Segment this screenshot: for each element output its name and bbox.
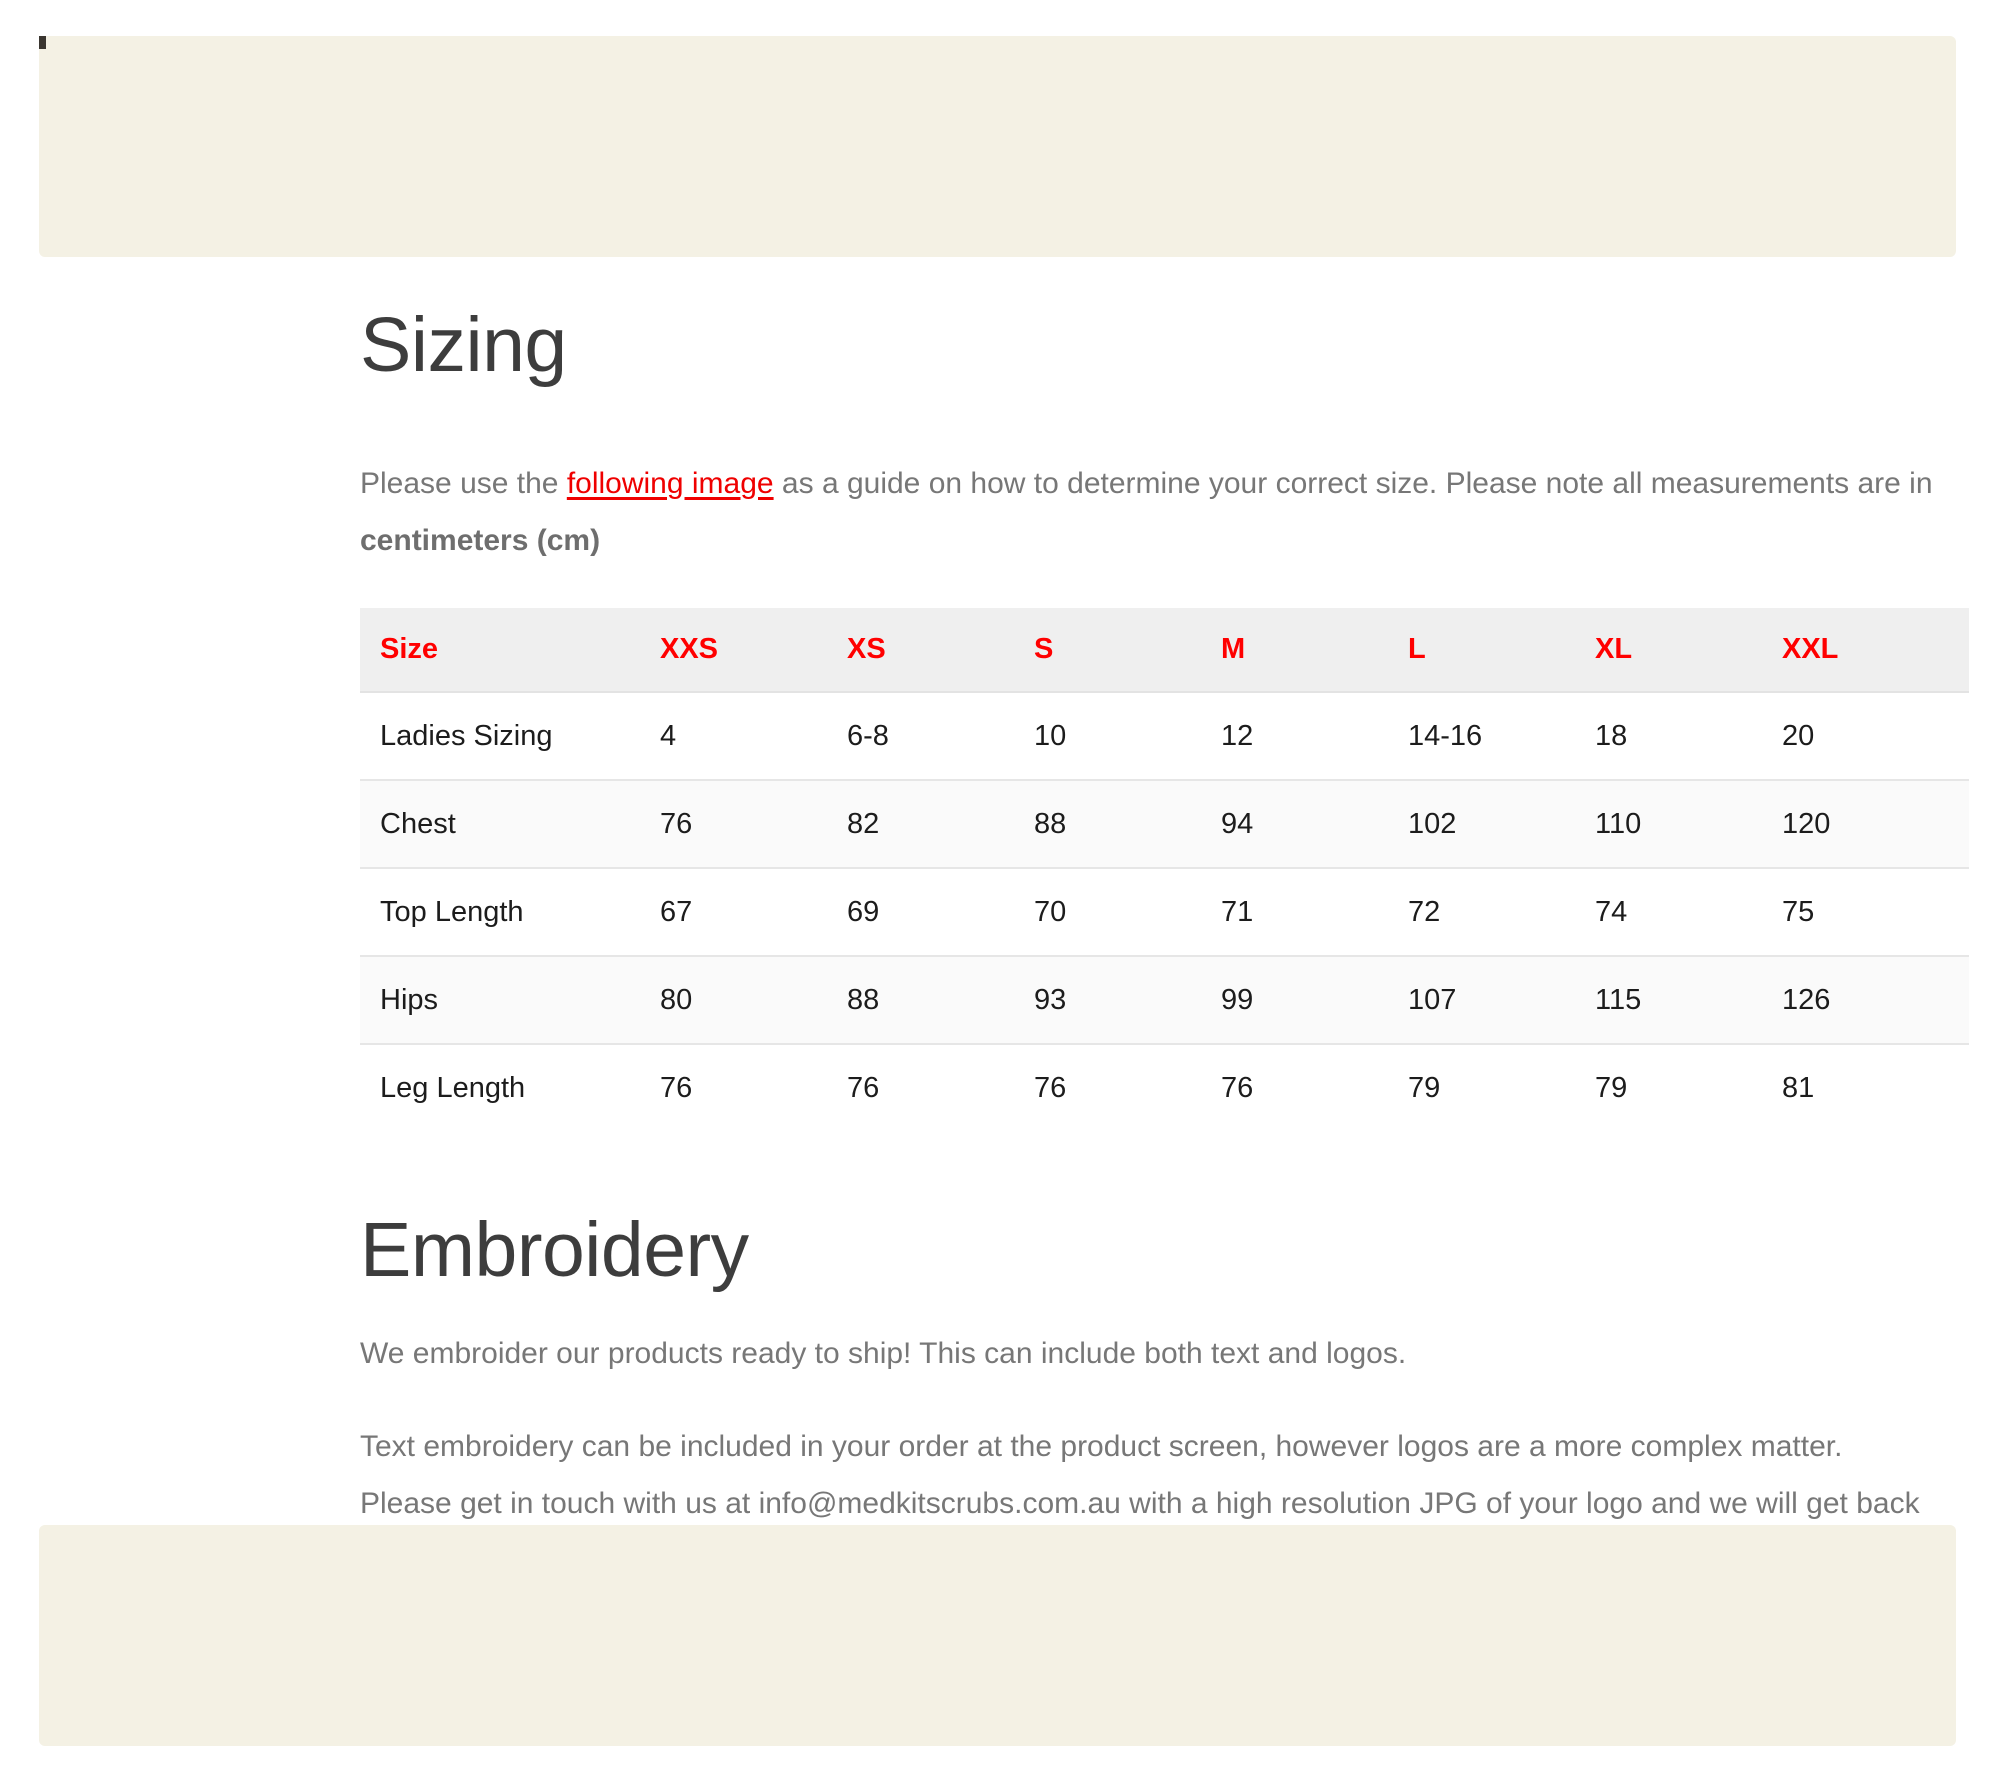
table-row: Top Length 67 69 70 71 72 74 75	[360, 868, 1969, 956]
row-cell: 102	[1408, 780, 1595, 868]
row-cell: 18	[1595, 692, 1782, 780]
intro-units-bold: centimeters (cm)	[360, 524, 600, 557]
table-header-row: Size XXS XS S M L XL XXL	[360, 608, 1969, 692]
sizing-table-head: Size XXS XS S M L XL XXL	[360, 608, 1969, 692]
row-label: Leg Length	[360, 1044, 660, 1131]
row-cell: 75	[1782, 868, 1969, 956]
row-cell: 14-16	[1408, 692, 1595, 780]
table-row: Hips 80 88 93 99 107 115 126	[360, 956, 1969, 1044]
column-header-xs: XS	[847, 608, 1034, 692]
corner-marker	[39, 36, 46, 49]
embroidery-paragraph-2: Text embroidery can be included in your …	[360, 1418, 1980, 1532]
sizing-intro-paragraph: Please use the following image as a guid…	[360, 455, 1955, 569]
row-cell: 71	[1221, 868, 1408, 956]
column-header-size: Size	[360, 608, 660, 692]
row-cell: 76	[660, 1044, 847, 1131]
table-row: Chest 76 82 88 94 102 110 120	[360, 780, 1969, 868]
embroidery-section-header: Embroidery	[360, 1205, 749, 1295]
row-cell: 81	[1782, 1044, 1969, 1131]
row-cell: 94	[1221, 780, 1408, 868]
row-cell: 76	[1034, 1044, 1221, 1131]
row-cell: 74	[1595, 868, 1782, 956]
row-label: Ladies Sizing	[360, 692, 660, 780]
row-cell: 76	[1221, 1044, 1408, 1131]
row-cell: 126	[1782, 956, 1969, 1044]
sizing-section-header: Sizing	[360, 300, 567, 390]
row-cell: 99	[1221, 956, 1408, 1044]
embroidery-paragraph-2-line-2: Please get in touch with us at info@medk…	[360, 1475, 1980, 1532]
row-cell: 67	[660, 868, 847, 956]
column-header-s: S	[1034, 608, 1221, 692]
row-cell: 107	[1408, 956, 1595, 1044]
row-cell: 10	[1034, 692, 1221, 780]
row-cell: 93	[1034, 956, 1221, 1044]
row-cell: 76	[847, 1044, 1034, 1131]
column-header-m: M	[1221, 608, 1408, 692]
image-placeholder-bottom	[39, 1525, 1956, 1746]
row-cell: 79	[1595, 1044, 1782, 1131]
row-cell: 69	[847, 868, 1034, 956]
sizing-table: Size XXS XS S M L XL XXL Ladies Sizing 4…	[360, 608, 1969, 1131]
row-cell: 20	[1782, 692, 1969, 780]
column-header-l: L	[1408, 608, 1595, 692]
row-cell: 80	[660, 956, 847, 1044]
intro-text-before-link: Please use the	[360, 467, 567, 500]
row-cell: 76	[660, 780, 847, 868]
row-label: Hips	[360, 956, 660, 1044]
column-header-xxs: XXS	[660, 608, 847, 692]
column-header-xl: XL	[1595, 608, 1782, 692]
embroidery-paragraph-2-line-1: Text embroidery can be included in your …	[360, 1418, 1980, 1475]
embroidery-title: Embroidery	[360, 1205, 749, 1295]
row-cell: 82	[847, 780, 1034, 868]
table-row: Ladies Sizing 4 6-8 10 12 14-16 18 20	[360, 692, 1969, 780]
sizing-table-container: Size XXS XS S M L XL XXL Ladies Sizing 4…	[360, 608, 1955, 1131]
row-cell: 120	[1782, 780, 1969, 868]
row-cell: 88	[847, 956, 1034, 1044]
row-cell: 88	[1034, 780, 1221, 868]
row-label: Chest	[360, 780, 660, 868]
row-cell: 12	[1221, 692, 1408, 780]
table-row: Leg Length 76 76 76 76 79 79 81	[360, 1044, 1969, 1131]
embroidery-paragraph-1: We embroider our products ready to ship!…	[360, 1325, 1955, 1382]
row-cell: 6-8	[847, 692, 1034, 780]
page-title: Sizing	[360, 300, 567, 390]
row-label: Top Length	[360, 868, 660, 956]
row-cell: 79	[1408, 1044, 1595, 1131]
row-cell: 4	[660, 692, 847, 780]
intro-text-after-link: as a guide on how to determine your corr…	[774, 467, 1933, 500]
image-placeholder-top	[39, 36, 1956, 257]
row-cell: 70	[1034, 868, 1221, 956]
row-cell: 115	[1595, 956, 1782, 1044]
sizing-table-body: Ladies Sizing 4 6-8 10 12 14-16 18 20 Ch…	[360, 692, 1969, 1131]
following-image-link[interactable]: following image	[567, 467, 774, 500]
row-cell: 72	[1408, 868, 1595, 956]
row-cell: 110	[1595, 780, 1782, 868]
column-header-xxl: XXL	[1782, 608, 1969, 692]
